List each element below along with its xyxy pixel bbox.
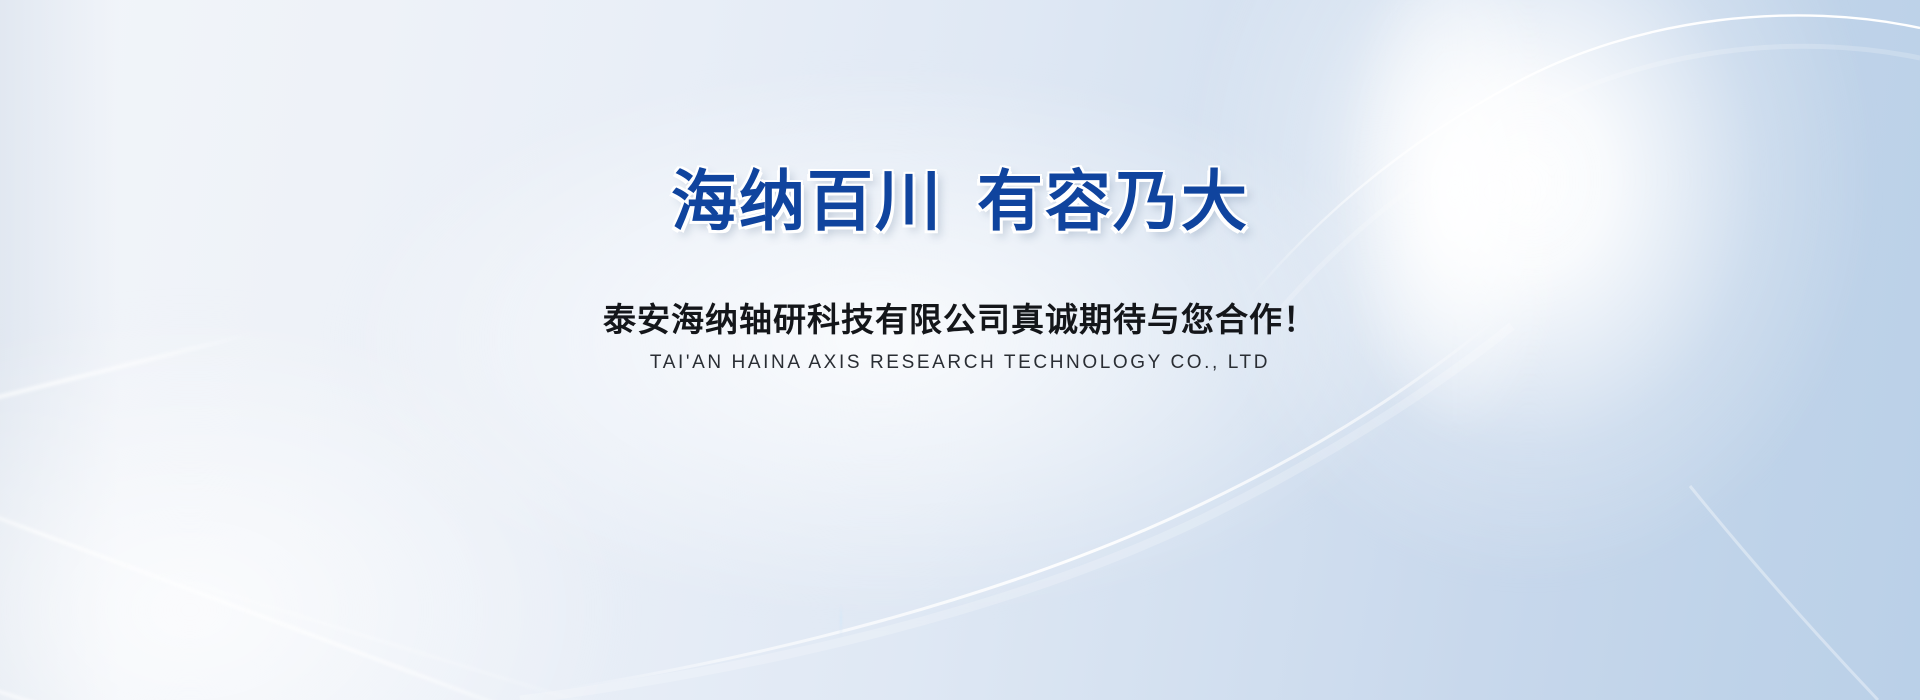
headline-part-1: 海纳百川: [671, 164, 943, 238]
subtitle-english: TAI'AN HAINA AXIS RESEARCH TECHNOLOGY CO…: [650, 352, 1270, 375]
headline: 海纳百川有容乃大: [671, 168, 1249, 234]
hero-banner: 海纳百川有容乃大 泰安海纳轴研科技有限公司真诚期待与您合作！ TAI'AN HA…: [0, 0, 1920, 700]
subtitle-chinese: 泰安海纳轴研科技有限公司真诚期待与您合作！: [603, 302, 1317, 338]
headline-part-2: 有容乃大: [977, 164, 1249, 238]
banner-content: 海纳百川有容乃大 泰安海纳轴研科技有限公司真诚期待与您合作！ TAI'AN HA…: [0, 0, 1920, 700]
